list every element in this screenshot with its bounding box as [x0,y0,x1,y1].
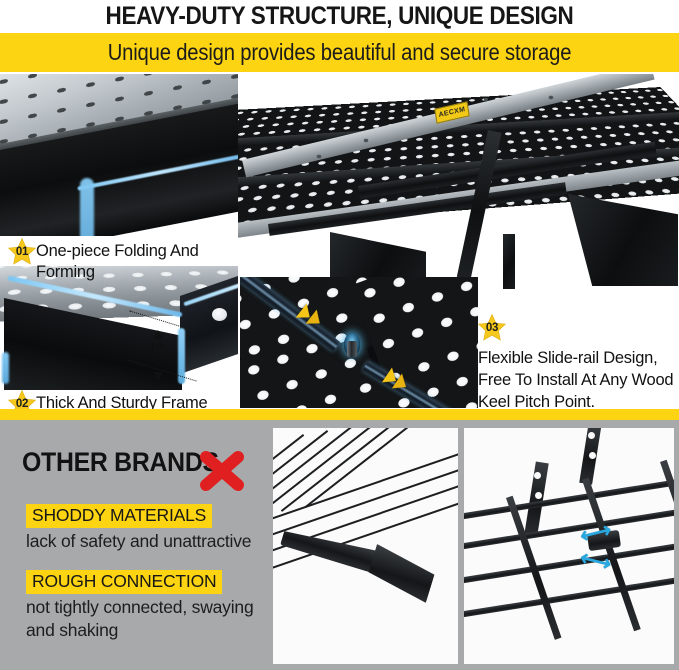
callout-number: 02 [16,398,28,410]
star-badge-icon: 03 [478,314,506,341]
bullet-label-1: SHODDY MATERIALS [26,504,212,528]
bolt-hole [317,155,321,158]
callout-label: One-piece Folding And Forming [36,238,240,283]
wire-strand [273,459,458,542]
frame-rail [464,508,674,550]
bullet-body-2b: and shaking [26,619,118,642]
bracket-hole [535,492,542,499]
infographic-page: HEAVY-DUTY STRUCTURE, UNIQUE DESIGN Uniq… [0,0,679,670]
rail-bolt [347,341,357,357]
photo-sturdy-frame: 1" [0,266,238,390]
bracket-hole [534,472,541,479]
bolt-hole [484,98,488,101]
bracket-hole [588,432,595,439]
photo-one-piece-folding [0,74,238,236]
x-mark-icon [197,450,247,492]
dimension-arrow-up [153,330,163,339]
section-divider [0,409,679,420]
photo-competitor-thin-frame: ⟷ ⟷ [464,428,674,664]
comparison-title: OTHER BRANDS [22,447,219,478]
vertical-post [503,234,515,289]
edge-highlight-left [80,178,94,236]
bolt-hole [549,96,553,99]
wire-strand [305,428,424,508]
callout-03: 03 Flexible Slide-rail Design, Free To I… [478,314,676,413]
dimension-label: 1" [148,340,162,357]
callout-01: 01 One-piece Folding And Forming [8,238,240,283]
photo-slide-rail-detail [240,277,478,408]
photo-rack-underside: AECXM [238,74,679,289]
callout-label: Flexible Slide-rail Design, Free To Inst… [478,341,676,413]
callout-number: 01 [16,246,28,258]
bolt-hole [364,139,368,142]
edge-highlight [2,352,9,384]
mounting-hole [212,308,227,321]
thin-support-bracket [365,544,438,603]
page-title: HEAVY-DUTY STRUCTURE, UNIQUE DESIGN [34,0,645,33]
bracket-hole [589,452,596,459]
page-subtitle: Unique design provides beautiful and sec… [41,33,639,72]
bullet-body-2: not tightly connected, swaying [26,596,253,619]
bullet-label-2: ROUGH CONNECTION [26,570,222,594]
star-badge-icon: 01 [8,238,36,265]
wire-strand [281,428,400,512]
photo-competitor-wire-mesh [273,428,458,664]
dimension-arrow-down [153,372,163,381]
frame-rail [464,576,674,618]
bullet-body-1: lack of safety and unattractive [26,530,251,553]
callout-number: 03 [486,322,498,334]
frame-rail [464,542,674,584]
support-bracket [568,194,678,286]
